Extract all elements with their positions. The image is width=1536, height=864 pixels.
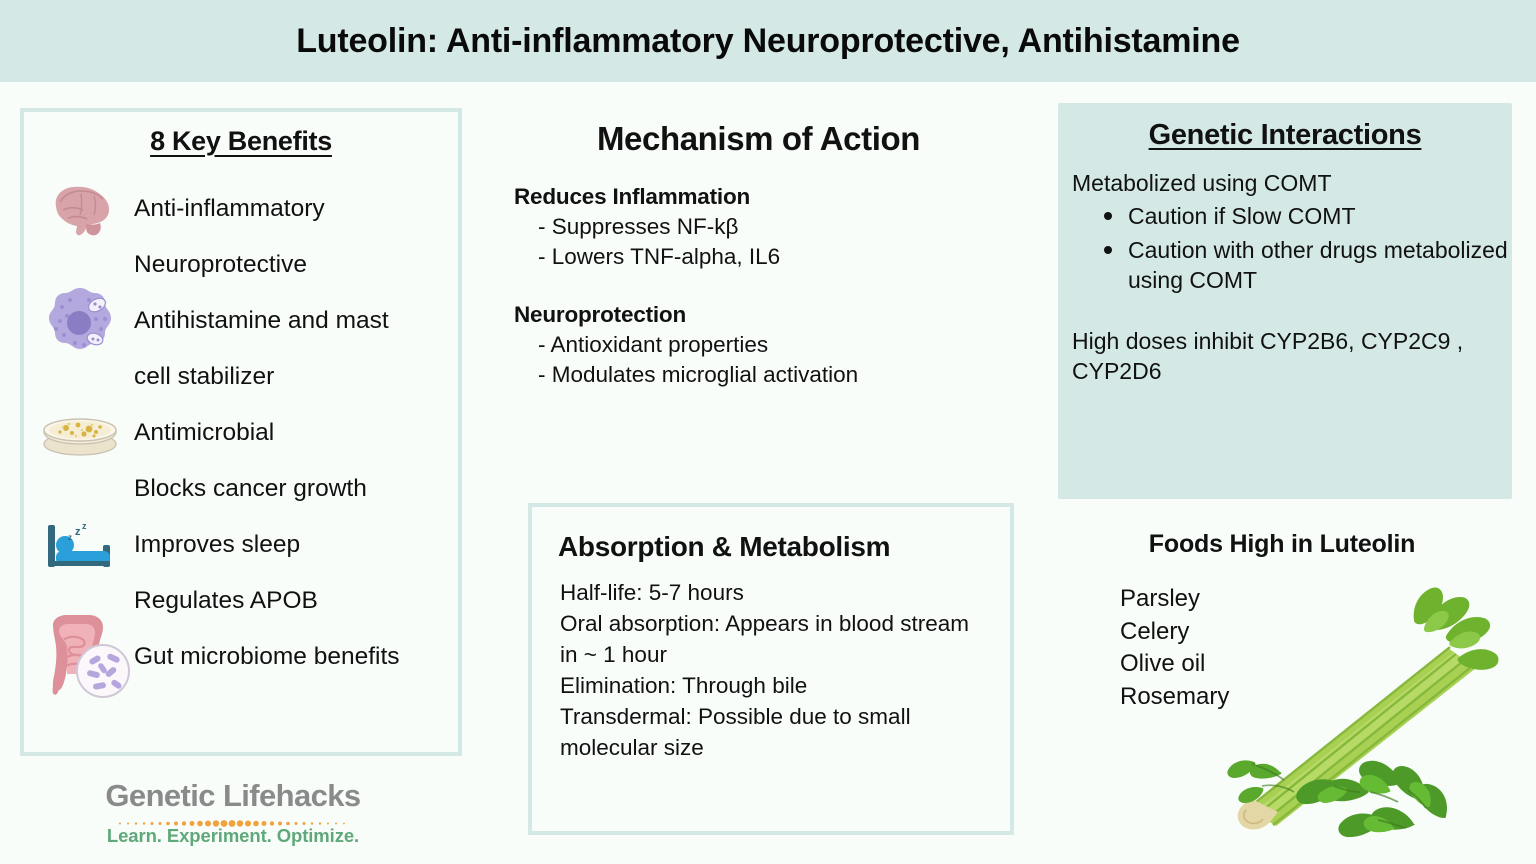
benefits-title: 8 Key Benefits — [24, 126, 458, 157]
brand-logo: Genetic Lifehacks Learn. Experiment. Opt… — [58, 778, 408, 847]
benefit-label: cell stabilizer — [134, 363, 274, 391]
logo-tagline: Learn. Experiment. Optimize. — [58, 825, 408, 847]
food-item: Celery — [1120, 616, 1528, 649]
benefit-label: Blocks cancer growth — [134, 475, 367, 503]
absorption-line: Elimination: Through bile — [560, 670, 984, 701]
list-item: Antihistamine and mast — [24, 293, 458, 349]
absorption-line: Transdermal: Possible due to small molec… — [560, 701, 984, 763]
header-band: Luteolin: Anti-inflammatory Neuroprotect… — [0, 0, 1536, 82]
benefits-panel: 8 Key Benefits Anti-inflammatory Neuropr… — [20, 108, 462, 756]
benefit-label: Gut microbiome benefits — [134, 643, 400, 671]
mechanism-item: - Suppresses NF-kβ — [514, 214, 1031, 240]
svg-text:z: z — [82, 521, 87, 531]
genetics-bullet-label: Caution with other drugs metabolized usi… — [1128, 237, 1508, 294]
food-item: Rosemary — [1120, 681, 1528, 714]
food-item: Olive oil — [1120, 648, 1528, 681]
mechanism-item: - Modulates microglial activation — [514, 362, 1031, 388]
absorption-panel: Absorption & Metabolism Half-life: 5-7 h… — [528, 503, 1014, 835]
mechanism-section: Mechanism of Action Reduces Inflammation… — [486, 120, 1031, 388]
food-item: Parsley — [1120, 583, 1528, 616]
mechanism-group-inflammation: Reduces Inflammation - Suppresses NF-kβ … — [486, 184, 1031, 270]
foods-title: Foods High in Luteolin — [1058, 530, 1528, 559]
mechanism-heading: Reduces Inflammation — [514, 184, 1031, 210]
gut-microbiome-icon — [26, 609, 136, 705]
absorption-list: Half-life: 5-7 hours Oral absorption: Ap… — [560, 577, 984, 763]
benefit-label: Improves sleep — [134, 531, 300, 559]
foods-section: Foods High in Luteolin — [1058, 530, 1528, 864]
logo-name: Genetic Lifehacks — [58, 778, 408, 814]
list-item: Caution with other drugs metabolized usi… — [1102, 235, 1512, 296]
bullet-dot-icon — [1104, 246, 1112, 254]
bullet-dot-icon — [1104, 212, 1112, 220]
genetics-intro: Metabolized using COMT — [1072, 170, 1512, 197]
benefits-list: Anti-inflammatory Neuroprotective — [24, 181, 458, 685]
benefit-label: Anti-inflammatory — [134, 195, 325, 223]
list-item: z z z Improves sleep — [24, 517, 458, 573]
list-item: Anti-inflammatory — [24, 181, 458, 237]
page-title: Luteolin: Anti-inflammatory Neuroprotect… — [296, 22, 1240, 61]
mechanism-item: - Lowers TNF-alpha, IL6 — [514, 244, 1031, 270]
foods-list: Parsley Celery Olive oil Rosemary — [1120, 583, 1528, 714]
genetics-title: Genetic Interactions — [1058, 119, 1512, 152]
genetics-bullets: Caution if Slow COMT Caution with other … — [1102, 201, 1512, 296]
mechanism-title: Mechanism of Action — [486, 120, 1031, 158]
list-item: Antimicrobial — [24, 405, 458, 461]
absorption-title: Absorption & Metabolism — [558, 531, 1010, 563]
logo-dot-divider-icon — [58, 815, 408, 824]
mechanism-group-neuroprotection: Neuroprotection - Antioxidant properties… — [486, 302, 1031, 388]
list-item: Gut microbiome benefits — [24, 629, 458, 685]
genetics-note: High doses inhibit CYP2B6, CYP2C9 , CYP2… — [1072, 326, 1512, 387]
benefit-label: Antihistamine and mast — [134, 307, 389, 335]
svg-text:z: z — [68, 533, 72, 542]
list-item: Caution if Slow COMT — [1102, 201, 1512, 232]
absorption-line: Oral absorption: Appears in blood stream… — [560, 608, 984, 670]
benefit-label: Regulates APOB — [134, 587, 318, 615]
genetics-panel: Genetic Interactions Metabolized using C… — [1058, 103, 1512, 499]
benefit-label: Neuroprotective — [134, 251, 307, 279]
svg-text:z: z — [75, 526, 81, 538]
absorption-line: Half-life: 5-7 hours — [560, 577, 984, 608]
mechanism-item: - Antioxidant properties — [514, 332, 1031, 358]
genetics-bullet-label: Caution if Slow COMT — [1128, 203, 1356, 229]
benefit-label: Antimicrobial — [134, 419, 274, 447]
mechanism-heading: Neuroprotection — [514, 302, 1031, 328]
